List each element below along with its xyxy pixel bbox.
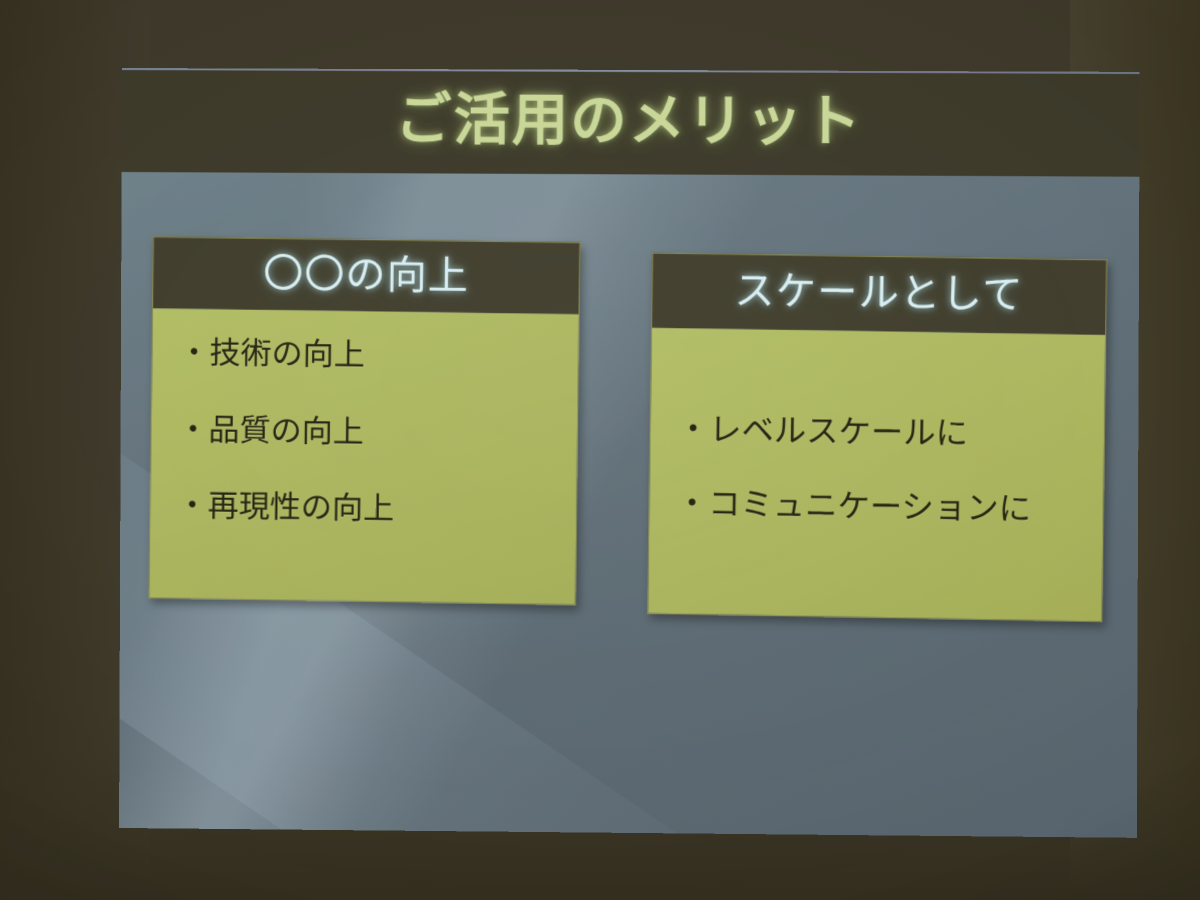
card-left-header-label: 〇〇の向上: [263, 253, 469, 296]
list-item: ・コミュニケーションに: [676, 487, 1077, 527]
slide-surface: ご活用のメリット 〇〇の向上 ・技術の向上 ・品質の向上 ・再現性の向上 スケー…: [119, 68, 1140, 838]
card-right-body: ・レベルスケールに ・コミュニケーションに: [647, 328, 1106, 622]
list-item: ・技術の向上: [178, 337, 552, 375]
list-item: ・レベルスケールに: [677, 413, 1078, 453]
card-right-bullet-list: ・レベルスケールに ・コミュニケーションに: [676, 346, 1079, 527]
card-left-body: ・技術の向上 ・品質の向上 ・再現性の向上: [148, 308, 579, 605]
card-left-header: 〇〇の向上: [152, 236, 580, 314]
slide-title: ご活用のメリット: [395, 92, 863, 150]
card-right-header: スケールとして: [651, 253, 1107, 335]
card-right-header-label: スケールとして: [734, 271, 1024, 316]
slide-canvas: ご活用のメリット 〇〇の向上 ・技術の向上 ・品質の向上 ・再現性の向上 スケー…: [119, 68, 1140, 838]
card-left-bullet-list: ・技術の向上 ・品質の向上 ・再現性の向上: [176, 327, 552, 529]
projected-slide-photo: ご活用のメリット 〇〇の向上 ・技術の向上 ・品質の向上 ・再現性の向上 スケー…: [0, 0, 1200, 900]
content-card-left: 〇〇の向上 ・技術の向上 ・品質の向上 ・再現性の向上: [148, 236, 580, 605]
list-item: ・品質の向上: [177, 413, 551, 451]
content-card-right: スケールとして ・レベルスケールに ・コミュニケーションに: [647, 253, 1107, 622]
slide-title-band: ご活用のメリット: [119, 70, 1140, 177]
list-item: ・再現性の向上: [176, 490, 550, 529]
